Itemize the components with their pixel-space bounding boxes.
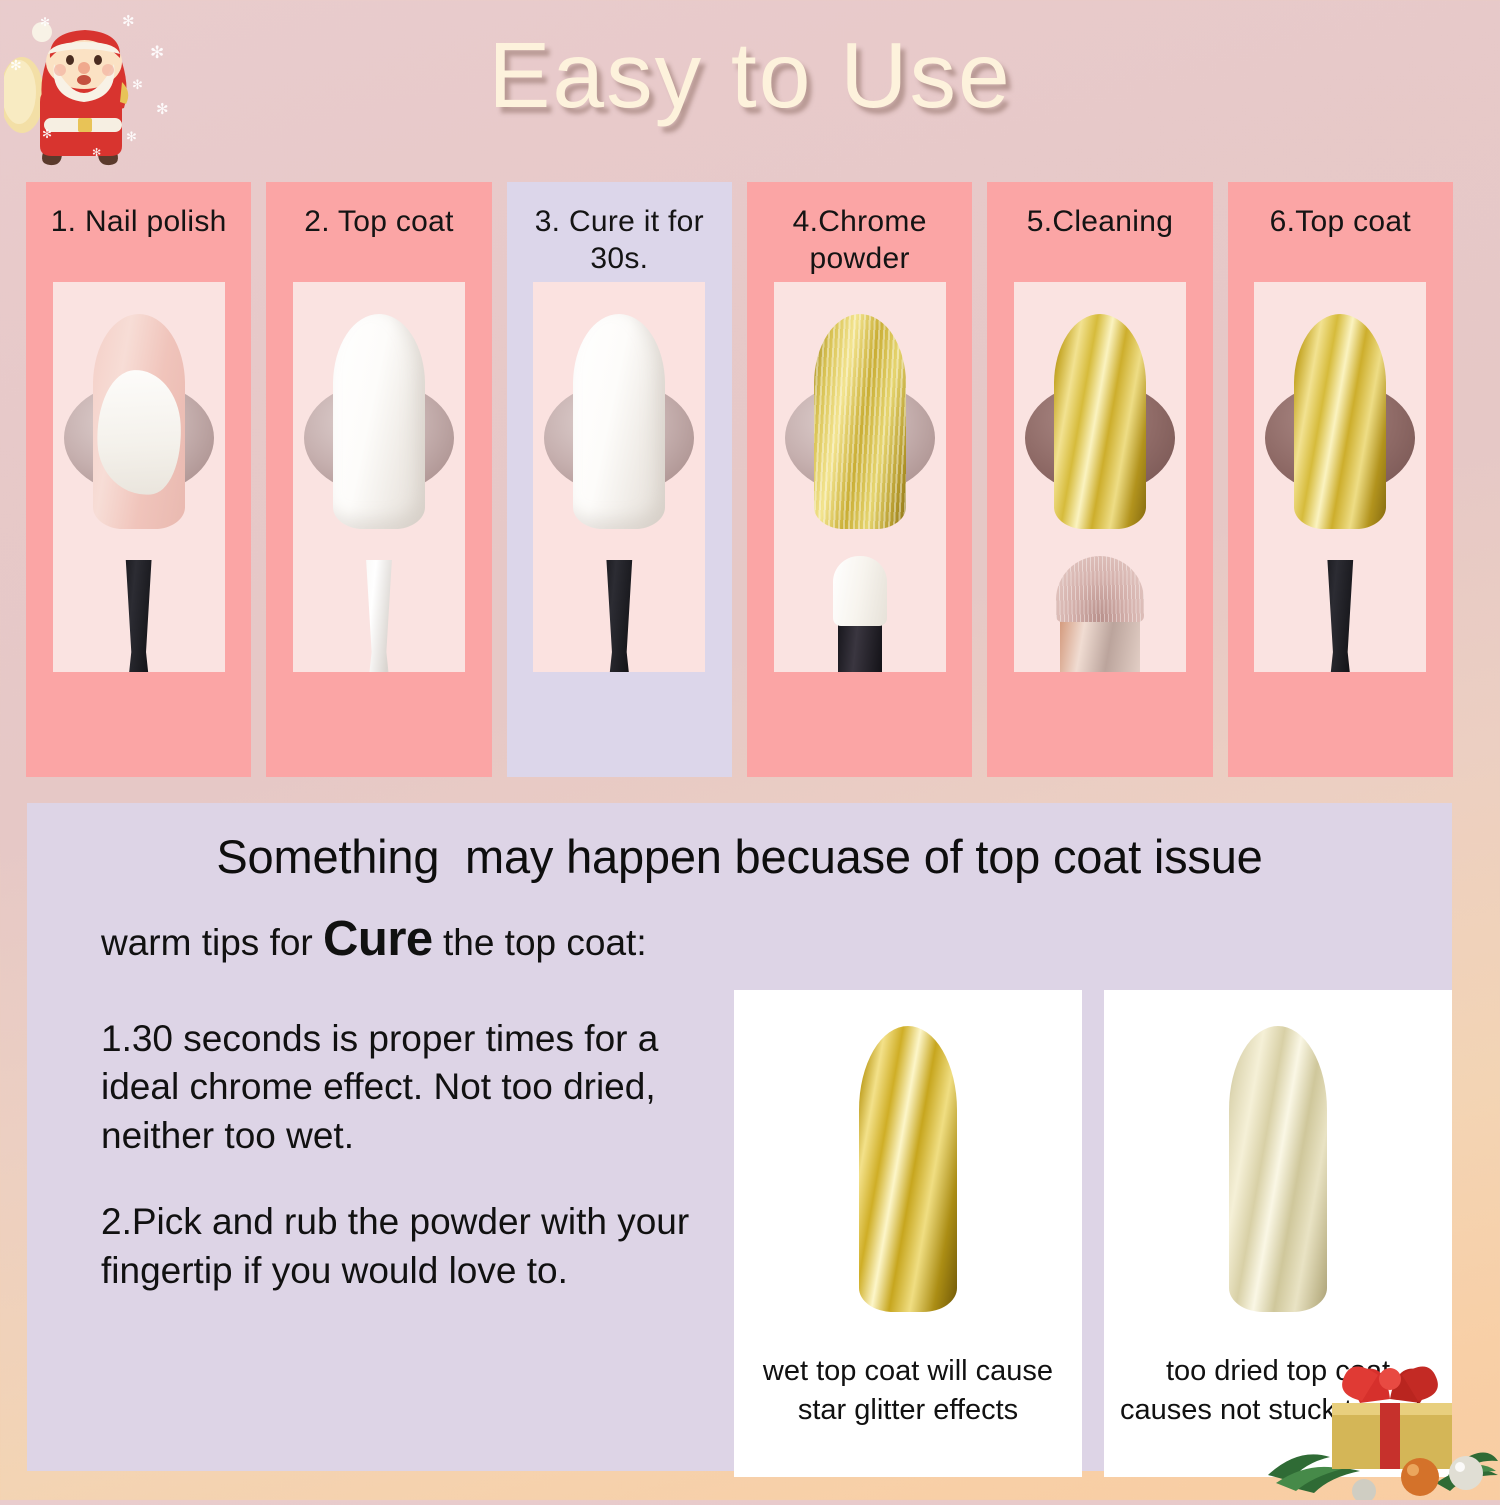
step-card-1: 1. Nail polish [26, 182, 251, 777]
gift-decoration [1260, 1325, 1500, 1500]
snowflake-icon: ✻ [132, 78, 143, 91]
panel-body: warm tips for Cure the top coat: 1.30 se… [27, 884, 1452, 1477]
step-card-4: 4.Chrome powder [747, 182, 972, 777]
nail-tip [1054, 314, 1146, 529]
dust-brush-icon [1052, 556, 1148, 672]
brush-ferrule [1060, 618, 1140, 672]
brush-handle-icon [596, 560, 642, 672]
comparison-caption: wet top coat will cause star glitter eff… [734, 1350, 1082, 1429]
tip-paragraph-2: 2.Pick and rub the powder with your fing… [101, 1198, 698, 1295]
nail-tip [1294, 314, 1386, 529]
step-label: 1. Nail polish [45, 204, 233, 282]
brush-bristles [1056, 556, 1144, 622]
step-card-2: 2. Top coat [266, 182, 491, 777]
snowflake-icon: ✻ [10, 58, 22, 72]
step-label: 2. Top coat [298, 204, 460, 282]
tip-paragraph-1: 1.30 seconds is proper times for a ideal… [101, 1015, 698, 1160]
snowflake-icon: ✻ [150, 44, 164, 61]
comparison-photo [1104, 990, 1452, 1350]
sponge-applicator-icon [831, 556, 889, 672]
snowflake-icon: ✻ [92, 148, 101, 159]
nail-tip [1229, 1026, 1327, 1312]
snowflake-icon: ✻ [122, 14, 135, 29]
comparison-photo [734, 990, 1082, 1350]
step-photo-5 [1014, 282, 1186, 672]
tips-lead-emphasis: Cure [323, 912, 433, 966]
nail-tip [333, 314, 425, 529]
panel-heading: Something may happen becuase of top coat… [27, 803, 1452, 884]
step-photo-2 [293, 282, 465, 672]
brush-handle-icon [1317, 560, 1363, 672]
step-photo-1 [53, 282, 225, 672]
page-title: Easy to Use [0, 22, 1500, 129]
santa-decoration: ✻ ✻ ✻ ✻ ✻ ✻ ✻ ✻ ✻ [4, 0, 174, 172]
gift-box-icon [1260, 1325, 1500, 1500]
step-card-3: 3. Cure it for 30s. [507, 182, 732, 777]
brush-handle-icon [356, 560, 402, 672]
step-label: 5.Cleaning [1021, 204, 1179, 282]
step-card-5: 5.Cleaning [987, 182, 1212, 777]
nail-tip [814, 314, 906, 529]
step-label: 3. Cure it for 30s. [507, 204, 732, 282]
tips-lead: warm tips for Cure the top coat: [101, 908, 698, 971]
tips-column: warm tips for Cure the top coat: 1.30 se… [101, 908, 698, 1477]
snowflake-icon: ✻ [126, 130, 137, 143]
troubleshooting-panel: Something may happen becuase of top coat… [27, 803, 1452, 1471]
steps-strip: 1. Nail polish 2. Top coat 3. Cure it fo… [26, 182, 1453, 777]
sponge-stick [838, 620, 882, 672]
sponge-tip [833, 556, 887, 626]
step-label: 6.Top coat [1264, 204, 1417, 282]
snowflake-cluster: ✻ ✻ ✻ ✻ ✻ ✻ ✻ ✻ ✻ [4, 0, 174, 172]
snowflake-icon: ✻ [156, 102, 169, 117]
nail-tip [859, 1026, 957, 1312]
step-photo-6 [1254, 282, 1426, 672]
brush-handle-icon [116, 560, 162, 672]
step-photo-4 [774, 282, 946, 672]
tips-lead-after: the top coat: [433, 922, 647, 963]
comparison-card-wet: wet top coat will cause star glitter eff… [734, 990, 1082, 1477]
step-label: 4.Chrome powder [747, 204, 972, 282]
tips-lead-before: warm tips for [101, 922, 323, 963]
nail-tip [573, 314, 665, 529]
step-photo-3 [533, 282, 705, 672]
snowflake-icon: ✻ [42, 128, 52, 140]
snowflake-icon: ✻ [40, 16, 50, 28]
step-card-6: 6.Top coat [1228, 182, 1453, 777]
